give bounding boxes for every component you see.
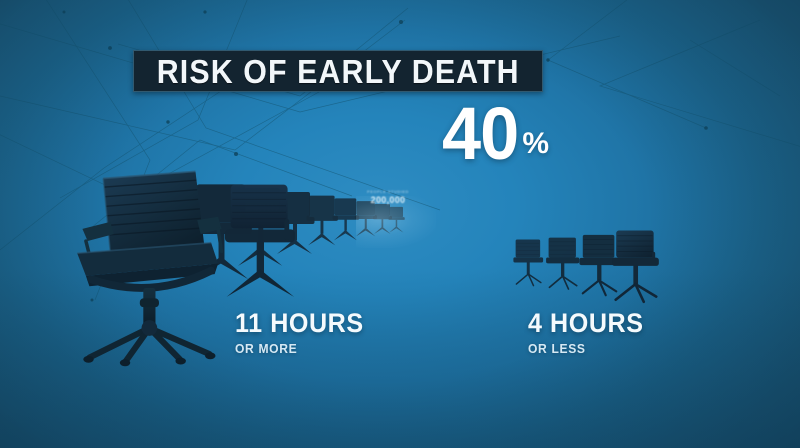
statistic-display: 40 % (440, 90, 590, 166)
title-text: RISK OF EARLY DEATH (157, 55, 520, 88)
title-banner: RISK OF EARLY DEATH (133, 50, 543, 92)
statistic-value: 40 (442, 102, 518, 166)
infographic-canvas: PEOPLE STUDIED 200,000 RISK OF EARLY DEA… (0, 0, 800, 448)
label-left-headline: 11 HOURS (235, 310, 364, 337)
label-left-subline: OR MORE (235, 342, 364, 355)
vanishing-point-label: PEOPLE STUDIED 200,000 (352, 190, 424, 216)
vanishing-point-number: 200,000 (352, 194, 424, 206)
label-group-right: 4 HOURS OR LESS (528, 310, 652, 355)
chair-left-1 (62, 168, 242, 368)
statistic-unit: % (522, 129, 549, 166)
label-group-left: 11 HOURS OR MORE (235, 310, 373, 355)
chair-right-1 (607, 229, 667, 307)
label-right-headline: 4 HOURS (528, 310, 644, 337)
label-right-subline: OR LESS (528, 342, 644, 355)
